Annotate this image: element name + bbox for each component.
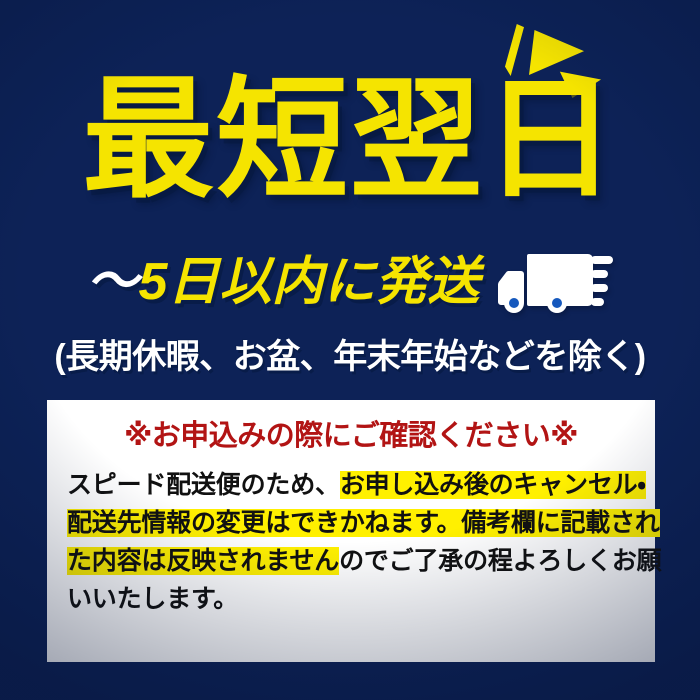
notice-card: ※お申込みの際にご確認ください※ スピード配送便のため、お申し込み後のキャンセル… xyxy=(47,400,655,662)
subline-tilde: 〜 xyxy=(87,253,139,311)
notice-line-2-highlight: 配送先情報の変更はできかねます。備考欄に記載され xyxy=(67,509,660,537)
subline-text: 5日以内に発送 xyxy=(139,253,480,311)
headline: 最短翌日 xyxy=(0,74,700,206)
notice-line-3: た内容は反映されませんのでご了承の程よろしくお願 xyxy=(67,542,635,580)
delivery-truck-icon xyxy=(495,251,613,313)
notice-line-2: 配送先情報の変更はできかねます。備考欄に記載され xyxy=(67,504,635,542)
notice-line-4: いいたします。 xyxy=(67,580,635,618)
subline-row: 〜5日以内に発送 xyxy=(0,250,700,314)
subline: 〜5日以内に発送 xyxy=(87,256,480,308)
notice-line-1: スピード配送便のため、お申し込み後のキャンセル・ xyxy=(67,466,635,504)
notice-line-3-highlight: た内容は反映されません xyxy=(67,547,339,575)
notice-card-title: ※お申込みの際にご確認ください※ xyxy=(67,418,635,454)
notice-line-4-plain: いいたします。 xyxy=(67,585,238,613)
exclusion-note: (長期休暇、お盆、年末年始などを除く) xyxy=(0,337,700,378)
notice-line-3-plain: のでご了承の程よろしくお願 xyxy=(339,547,661,575)
notice-line-1-highlight: お申し込み後のキャンセル・ xyxy=(340,471,646,499)
notice-card-body: スピード配送便のため、お申し込み後のキャンセル・ 配送先情報の変更はできかねます… xyxy=(67,466,635,618)
notice-line-1-plain: スピード配送便のため、 xyxy=(67,471,340,499)
promo-banner: 最短翌日 〜5日以内に発送 (長期 xyxy=(0,0,700,700)
